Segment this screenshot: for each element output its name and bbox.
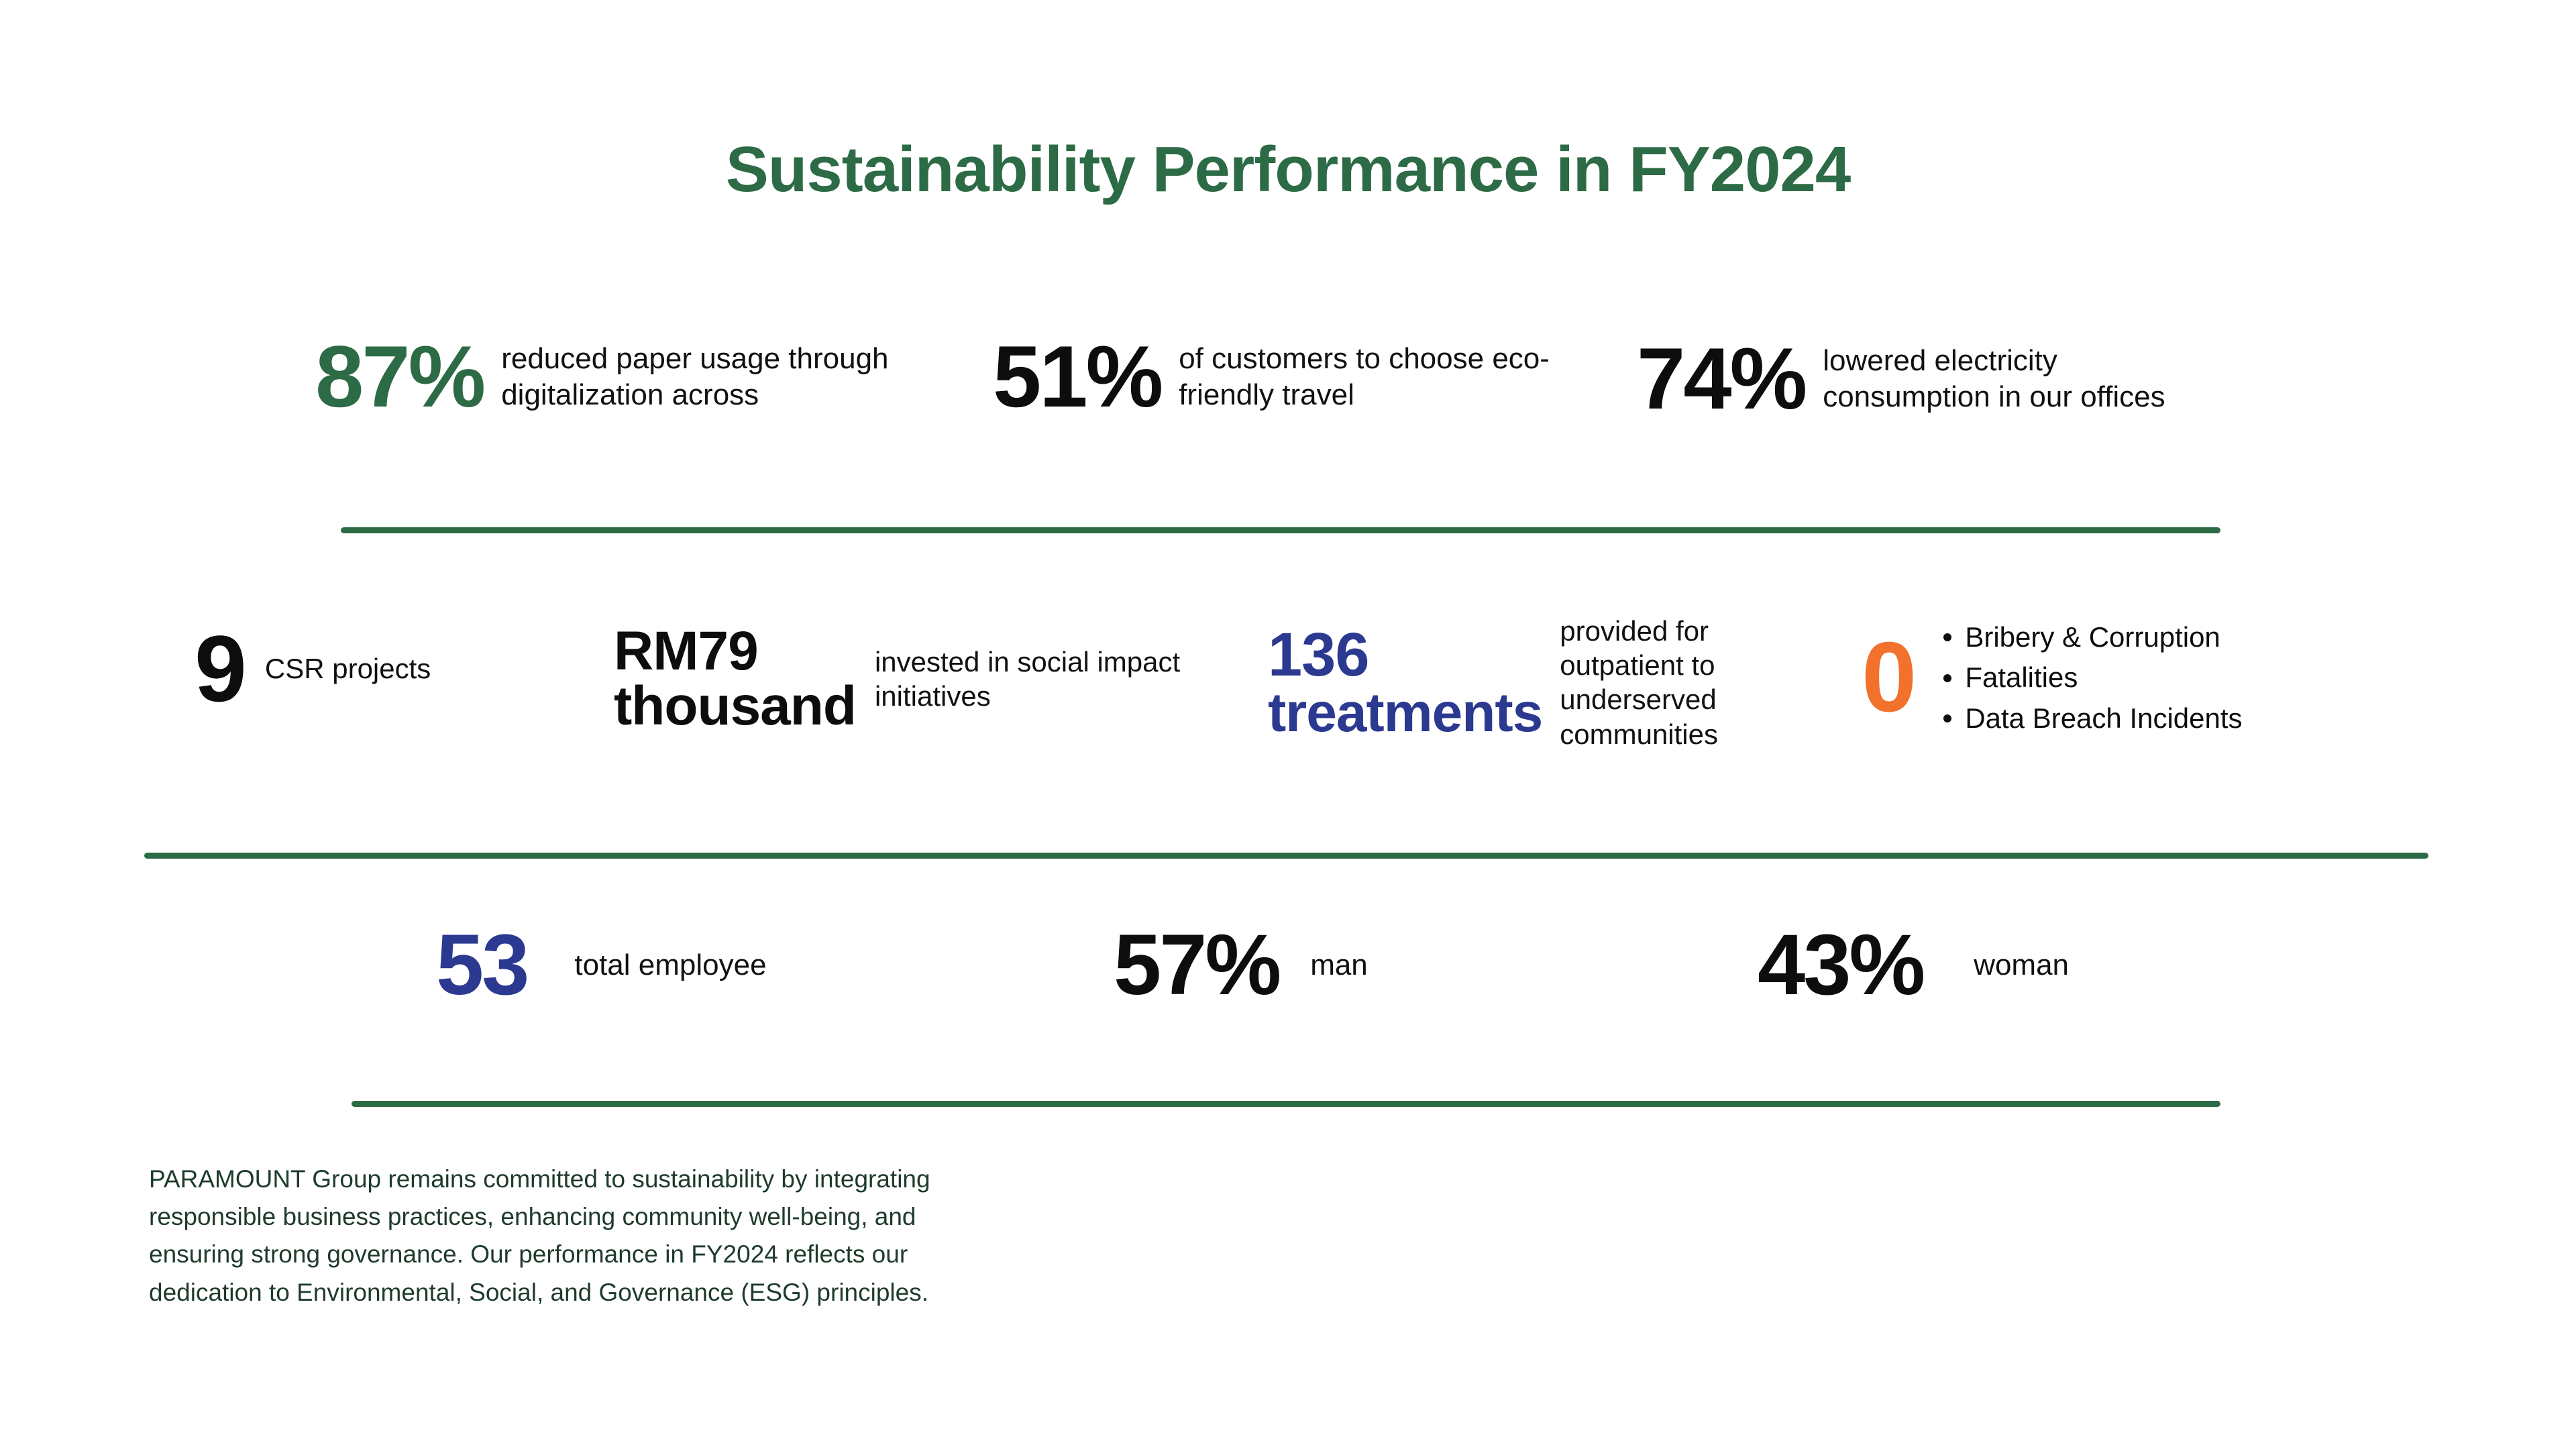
divider-row-2 — [144, 853, 2428, 859]
stat-description-man: man — [1310, 947, 1368, 983]
stat-description-eco-friendly-travel: of customers to choose eco-friendly trav… — [1179, 341, 1554, 413]
stat-description-woman: woman — [1974, 947, 2069, 983]
stat-lowered-electricity: 74% lowered electricity consumption in o… — [1637, 337, 2188, 421]
stat-description-lowered-electricity: lowered electricity consumption in our o… — [1823, 343, 2188, 415]
stat-description-csr-projects: CSR projects — [265, 651, 431, 686]
stat-reduced-paper-usage: 87% reduced paper usage through digitali… — [315, 335, 904, 419]
stat-value-136-line2: treatments — [1268, 686, 1542, 741]
stat-value-74-percent: 74% — [1637, 337, 1805, 421]
stat-value-43-percent: 43% — [1758, 924, 1923, 1006]
stat-value-51-percent: 51% — [993, 335, 1161, 419]
stat-man-percentage: 57% man — [1114, 924, 1368, 1006]
stat-value-87-percent: 87% — [315, 335, 484, 419]
stat-value-rm79-line1: RM79 — [614, 624, 856, 679]
stat-zero-incidents: 0 Bribery & Corruption Fatalities Data B… — [1862, 617, 2243, 739]
stat-value-zero: 0 — [1862, 631, 1915, 725]
stat-description-total-employee: total employee — [574, 947, 766, 983]
divider-row-1 — [341, 527, 2220, 533]
stat-value-9: 9 — [195, 624, 245, 713]
list-item: Data Breach Incidents — [1941, 698, 2242, 739]
list-item: Fatalities — [1941, 657, 2242, 698]
stat-description-reduced-paper-usage: reduced paper usage through digitalizati… — [501, 341, 904, 413]
stat-description-treatments: provided for outpatient to underserved c… — [1560, 614, 1794, 751]
zero-incidents-list: Bribery & Corruption Fatalities Data Bre… — [1941, 617, 2242, 739]
infographic-canvas: Sustainability Performance in FY2024 87%… — [0, 0, 2576, 1449]
page-title: Sustainability Performance in FY2024 — [0, 133, 2576, 207]
stat-treatments: 136 treatments provided for outpatient t… — [1268, 614, 1794, 751]
footer-statement: PARAMOUNT Group remains committed to sus… — [149, 1161, 1001, 1311]
stat-woman-percentage: 43% woman — [1758, 924, 2069, 1006]
stat-value-136-line1: 136 — [1268, 624, 1542, 686]
stat-value-57-percent: 57% — [1114, 924, 1279, 1006]
divider-row-3 — [352, 1101, 2220, 1107]
stat-total-employee: 53 total employee — [436, 924, 767, 1006]
stat-value-rm79-thousand: RM79 thousand — [614, 624, 856, 734]
stat-value-136-treatments: 136 treatments — [1268, 624, 1542, 741]
stat-value-53: 53 — [436, 924, 527, 1006]
stat-csr-projects: 9 CSR projects — [195, 624, 431, 713]
stat-description-social-investment: invested in social impact initiatives — [875, 645, 1197, 713]
stat-social-investment: RM79 thousand invested in social impact … — [614, 624, 1197, 734]
stat-eco-friendly-travel: 51% of customers to choose eco-friendly … — [993, 335, 1554, 419]
list-item: Bribery & Corruption — [1941, 617, 2242, 657]
stat-value-rm79-line2: thousand — [614, 679, 856, 734]
